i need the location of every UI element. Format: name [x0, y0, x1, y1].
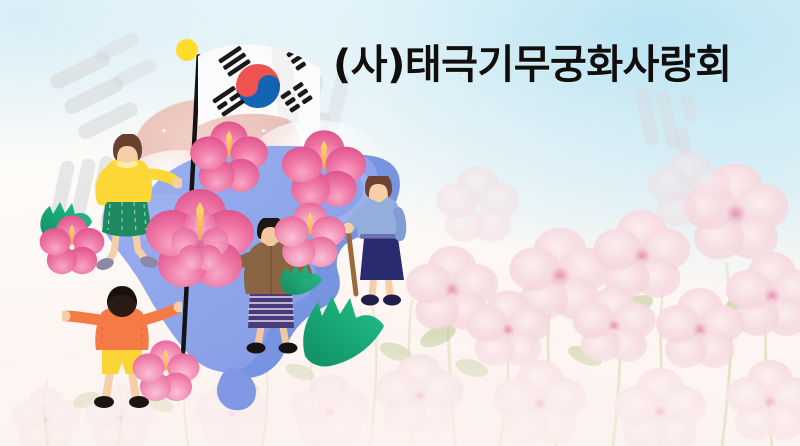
- person-elder-with-cane: [326, 176, 426, 316]
- banner-canvas: (사)태극기무궁화사랑회: [0, 0, 800, 446]
- page-title: (사)태극기무궁화사랑회: [333, 45, 732, 85]
- korean-flag-taegeukgi: [170, 38, 325, 368]
- person-woman-yellow-sweater: [72, 134, 182, 274]
- flag-finial: [176, 39, 198, 61]
- person-child-orange-top: [62, 286, 182, 426]
